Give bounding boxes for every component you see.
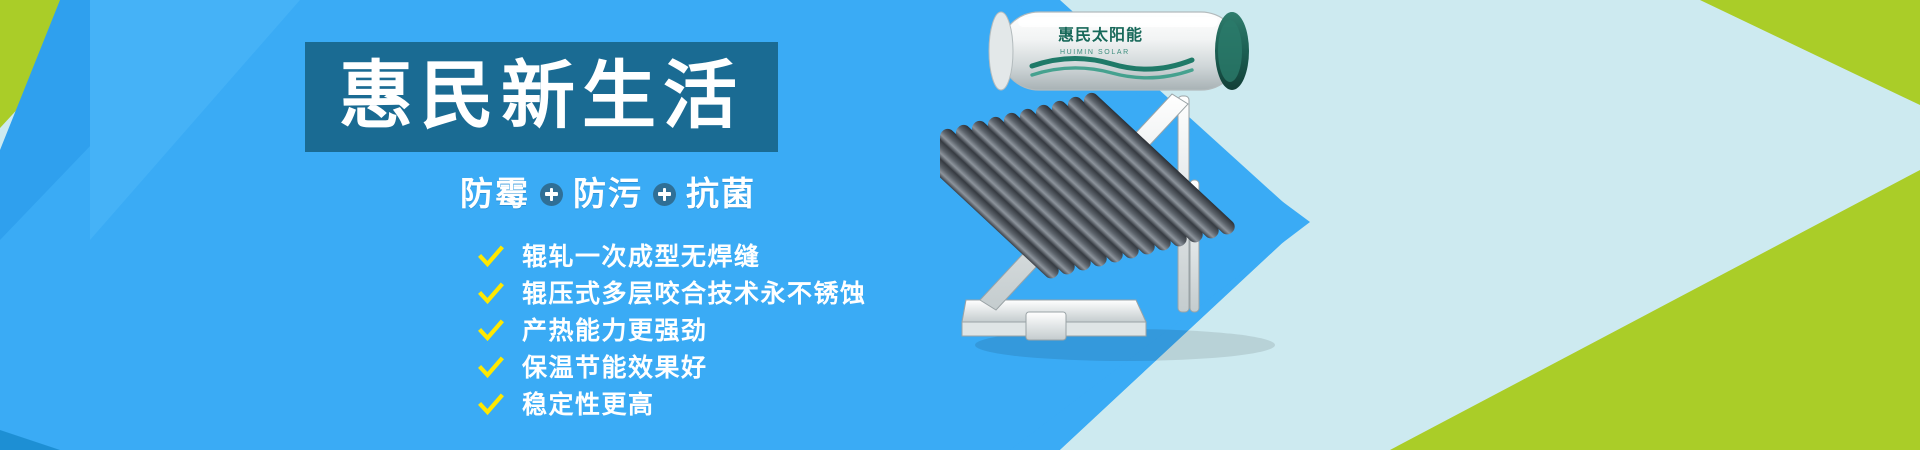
subtitle-part-1: 防霉 xyxy=(460,175,530,213)
list-item-label: 辊轧一次成型无焊缝 xyxy=(522,242,761,272)
check-icon xyxy=(478,392,504,418)
list-item: 产热能力更强劲 xyxy=(478,314,867,348)
subtitle-part-3: 抗菌 xyxy=(686,175,756,213)
check-icon xyxy=(478,244,504,270)
check-icon xyxy=(478,355,504,381)
plus-icon xyxy=(540,183,563,206)
list-item: 保温节能效果好 xyxy=(478,351,867,385)
check-icon xyxy=(478,281,504,307)
list-item-label: 保温节能效果好 xyxy=(522,353,708,383)
product-image: 惠民太阳能 HUIMIN SOLAR xyxy=(940,0,1360,450)
feature-list: 辊轧一次成型无焊缝 辊压式多层咬合技术永不锈蚀 产热能力更强劲 保温节能效果好 xyxy=(478,240,867,425)
svg-text:惠民太阳能: 惠民太阳能 xyxy=(1058,25,1143,44)
list-item: 稳定性更高 xyxy=(478,388,867,422)
list-item: 辊压式多层咬合技术永不锈蚀 xyxy=(478,277,867,311)
subtitle-part-2: 防污 xyxy=(573,175,643,213)
subtitle-row: 防霉 防污 抗菌 xyxy=(460,175,756,213)
title-bar: 惠民新生活 xyxy=(305,42,778,152)
list-item-label: 稳定性更高 xyxy=(522,390,655,420)
list-item: 辊轧一次成型无焊缝 xyxy=(478,240,867,274)
list-item-label: 辊压式多层咬合技术永不锈蚀 xyxy=(522,279,867,309)
list-item-label: 产热能力更强劲 xyxy=(522,316,708,346)
banner-content: 惠民新生活 防霉 防污 抗菌 辊轧一次成型无焊缝 xyxy=(0,0,1060,450)
promo-banner: 惠民新生活 防霉 防污 抗菌 辊轧一次成型无焊缝 xyxy=(0,0,1920,450)
plus-icon xyxy=(653,183,676,206)
page-title: 惠民新生活 xyxy=(339,56,744,136)
check-icon xyxy=(478,318,504,344)
svg-text:HUIMIN SOLAR: HUIMIN SOLAR xyxy=(1060,49,1130,56)
